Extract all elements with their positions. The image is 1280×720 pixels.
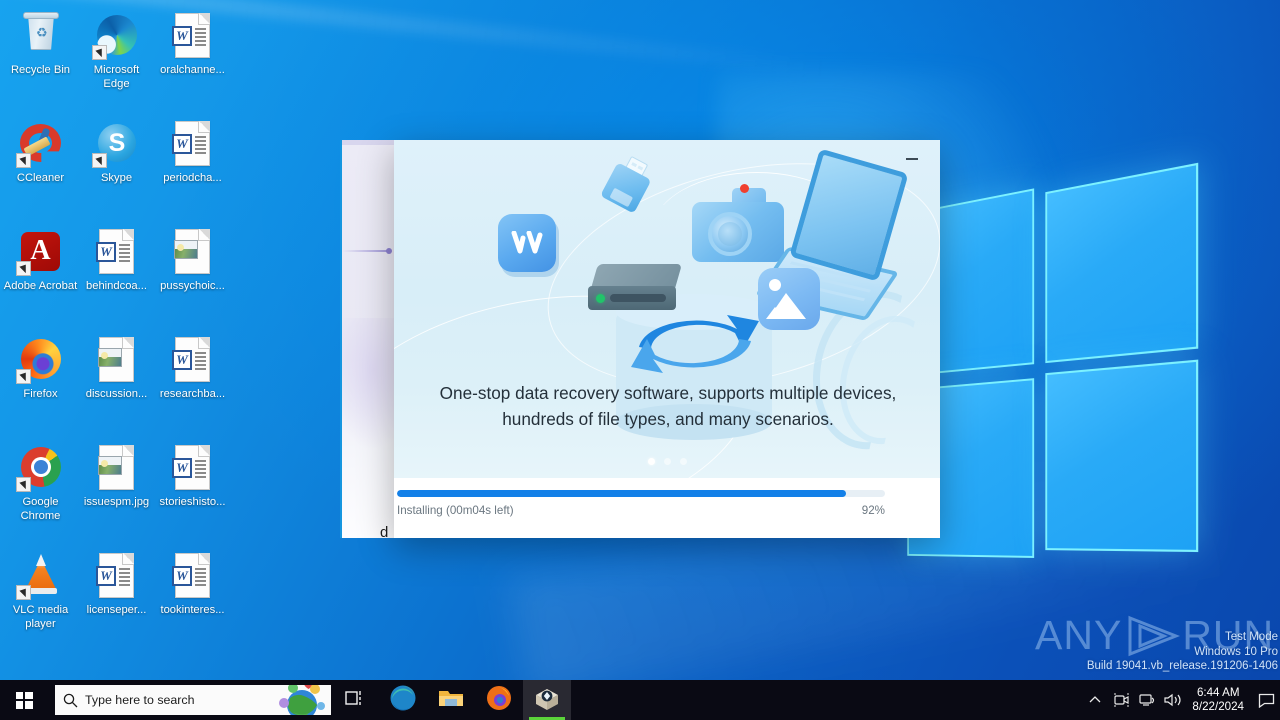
desktop-icon-tookinteres[interactable]: W tookinteres... (155, 546, 230, 654)
desktop-icon-firefox[interactable]: Firefox (3, 330, 78, 438)
installer-banner: One-stop data recovery software, support… (394, 140, 940, 478)
image-file-icon (93, 444, 140, 491)
search-input[interactable]: Type here to search (55, 685, 331, 715)
installer-package-icon (534, 686, 560, 715)
word-document-icon: W (169, 336, 216, 383)
word-document-icon: W (169, 120, 216, 167)
progress-bar-track (397, 490, 885, 497)
adobe-acrobat-icon: A (17, 228, 64, 275)
shortcut-arrow-icon (16, 477, 31, 492)
skype-icon: S (93, 120, 140, 167)
shortcut-arrow-icon (92, 153, 107, 168)
image-file-icon (93, 336, 140, 383)
installer-footer: Installing (00m04s left) 92% (394, 478, 940, 538)
desktop-icon-label: Microsoft Edge (80, 64, 154, 91)
desktop-icon-researchba[interactable]: W researchba... (155, 330, 230, 438)
carousel-dot-1[interactable] (648, 458, 655, 465)
desktop-icon-ccleaner[interactable]: CCleaner (3, 114, 78, 222)
word-document-icon: W (93, 228, 140, 275)
desktop-icon-storieshisto[interactable]: W storieshisto... (155, 438, 230, 546)
desktop-icon-label: discussion... (86, 388, 148, 402)
edge-icon (93, 12, 140, 59)
desktop-icon-label: oralchanne... (160, 64, 225, 78)
shortcut-arrow-icon (92, 45, 107, 60)
installer-window[interactable]: One-stop data recovery software, support… (394, 140, 940, 538)
desktop-icon-label: Skype (101, 172, 132, 186)
ccleaner-icon (17, 120, 64, 167)
desktop-icon-label: behindcoa... (86, 280, 147, 294)
system-tray: 6:44 AM 8/22/2024 (1082, 680, 1280, 720)
desktop-icon-grid: ♻ Recycle Bin Microsoft Edge W oralchann… (0, 6, 236, 654)
desktop-icon-label: tookinteres... (160, 604, 224, 618)
desktop-icon-oralchanne[interactable]: W oralchanne... (155, 6, 230, 114)
desktop-icon-label: licenseper... (87, 604, 147, 618)
shortcut-arrow-icon (16, 261, 31, 276)
progress-bar-fill (397, 490, 846, 497)
clock[interactable]: 6:44 AM 8/22/2024 (1186, 686, 1252, 714)
taskbar-button-firefox[interactable] (475, 680, 523, 720)
photo-icon (758, 268, 820, 330)
shortcut-arrow-icon (16, 153, 31, 168)
word-document-icon: W (169, 552, 216, 599)
recycle-bin-icon: ♻ (17, 12, 64, 59)
desktop-icon-pussychoic[interactable]: pussychoic... (155, 222, 230, 330)
task-view-icon (345, 689, 365, 712)
folder-icon (438, 687, 464, 714)
desktop-icon-issuespm-jpg[interactable]: issuespm.jpg (79, 438, 154, 546)
desktop-icon-label: storieshisto... (160, 496, 226, 510)
desktop-icon-label: Adobe Acrobat (4, 280, 77, 294)
volume-icon[interactable] (1160, 680, 1186, 720)
action-center-icon (1258, 693, 1275, 708)
desktop-icon-adobe-acrobat[interactable]: A Adobe Acrobat (3, 222, 78, 330)
desktop-icon-label: periodcha... (163, 172, 221, 186)
firefox-icon (17, 336, 64, 383)
test-mode-line-3: Build 19041.vb_release.191206-1406 (1087, 659, 1278, 674)
desktop-icon-label: Google Chrome (4, 496, 78, 523)
camera-tray-icon[interactable] (1108, 680, 1134, 720)
background-window-text: d (380, 524, 388, 538)
shortcut-arrow-icon (16, 369, 31, 384)
desktop-icon-licenseper[interactable]: W licenseper... (79, 546, 154, 654)
desktop-icon-label: Firefox (23, 388, 57, 402)
vlc-icon (17, 552, 64, 599)
shortcut-arrow-icon (16, 585, 31, 600)
desktop-icon-label: VLC media player (4, 604, 78, 631)
word-document-icon: W (169, 444, 216, 491)
clock-date: 8/22/2024 (1192, 700, 1244, 714)
edge-icon (390, 685, 416, 716)
external-hard-drive-icon (588, 264, 680, 312)
network-icon[interactable] (1134, 680, 1160, 720)
desktop-icon-vlc-media-player[interactable]: VLC media player (3, 546, 78, 654)
desktop-icon-periodcha[interactable]: W periodcha... (155, 114, 230, 222)
desktop-icon-google-chrome[interactable]: Google Chrome (3, 438, 78, 546)
test-mode-line-1: Test Mode (1087, 630, 1278, 645)
desktop-icon-behindcoa[interactable]: W behindcoa... (79, 222, 154, 330)
task-view-button[interactable] (331, 680, 379, 720)
taskbar: Type here to search (0, 680, 1280, 720)
taskbar-button-file-explorer[interactable] (427, 680, 475, 720)
test-mode-line-2: Windows 10 Pro (1087, 645, 1278, 660)
minimize-icon (906, 158, 918, 160)
camera-icon (692, 184, 788, 268)
start-button[interactable] (0, 680, 48, 720)
chevron-up-icon[interactable] (1082, 680, 1108, 720)
background-window-blob (342, 318, 396, 448)
firefox-icon (486, 685, 512, 716)
action-center-button[interactable] (1252, 680, 1280, 720)
taskbar-button-edge[interactable] (379, 680, 427, 720)
background-window-line (342, 250, 390, 252)
background-window-titlebar (342, 140, 396, 145)
desktop-icon-label: issuespm.jpg (84, 496, 149, 510)
background-window[interactable]: d (342, 140, 396, 538)
search-placeholder: Type here to search (85, 693, 195, 707)
background-window-dot (386, 248, 392, 254)
search-icon (55, 693, 85, 708)
desktop-icon-microsoft-edge[interactable]: Microsoft Edge (79, 6, 154, 114)
test-mode-watermark: Test Mode Windows 10 Pro Build 19041.vb_… (1087, 630, 1278, 674)
carousel-dot-3[interactable] (680, 458, 687, 465)
taskbar-button-installer[interactable] (523, 680, 571, 720)
app-w-icon (498, 214, 556, 272)
word-document-icon: W (169, 12, 216, 59)
desktop-icon-label: researchba... (160, 388, 225, 402)
carousel-dots[interactable] (394, 458, 940, 465)
word-document-icon: W (93, 552, 140, 599)
minimize-button[interactable] (898, 148, 926, 170)
desktop-icon-skype[interactable]: S Skype (79, 114, 154, 222)
windows-logo-wallpaper (907, 158, 1187, 578)
desktop-icon-recycle-bin[interactable]: ♻ Recycle Bin (3, 6, 78, 114)
recycle-arrows-icon (619, 303, 771, 375)
desktop-icon-discussion[interactable]: discussion... (79, 330, 154, 438)
desktop-icon-label: pussychoic... (160, 280, 225, 294)
chrome-icon (17, 444, 64, 491)
image-file-icon (169, 228, 216, 275)
carousel-dot-2[interactable] (664, 458, 671, 465)
installer-tagline: One-stop data recovery software, support… (426, 380, 910, 432)
install-percent-text: 92% (397, 504, 885, 517)
search-highlight-globe-icon (269, 685, 327, 715)
desktop-icon-label: Recycle Bin (11, 64, 70, 78)
windows-logo-icon (16, 692, 33, 709)
desktop-icon-label: CCleaner (17, 172, 64, 186)
clock-time: 6:44 AM (1192, 686, 1244, 700)
